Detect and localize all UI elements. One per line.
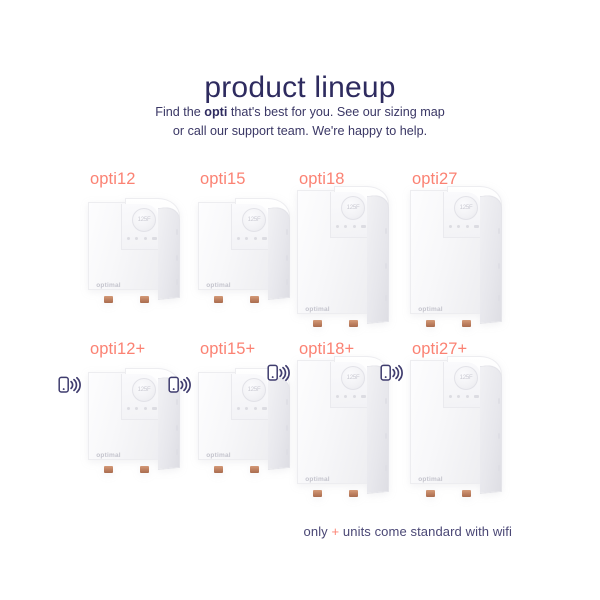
display-temperature-value: 125F	[248, 217, 261, 223]
control-button-2[interactable]	[344, 395, 347, 398]
temperature-display[interactable]: 125F	[454, 196, 478, 220]
control-button-1[interactable]	[449, 395, 452, 398]
phone-wifi-icon	[267, 364, 291, 382]
side-vent-3	[286, 449, 288, 455]
display-temperature-value: 125F	[138, 217, 151, 223]
unit-side-panel	[268, 206, 290, 300]
phone-wifi-icon	[168, 376, 192, 394]
product-grid: opti12125Foptimalopti15125Foptimalopti18…	[0, 0, 600, 600]
side-vent-2	[176, 255, 178, 261]
control-button-3[interactable]	[353, 395, 356, 398]
copper-pipe-outlet	[462, 320, 471, 327]
control-button-2[interactable]	[245, 237, 248, 240]
control-button-3[interactable]	[466, 225, 469, 228]
copper-pipe-inlet	[214, 466, 223, 473]
side-vent-2	[385, 263, 387, 269]
wifi-footnote: only + units come standard with wifi	[304, 524, 512, 539]
side-vent-1	[385, 398, 387, 404]
side-vent-3	[176, 449, 178, 455]
unit-side-panel	[480, 364, 502, 494]
control-button-2[interactable]	[135, 407, 138, 410]
control-button-4[interactable]	[262, 237, 267, 240]
copper-pipe-outlet	[349, 490, 358, 497]
control-button-1[interactable]	[127, 407, 130, 410]
brand-logo: optimal	[206, 282, 231, 289]
unit-side-panel	[480, 194, 502, 324]
unit-side-panel	[268, 376, 290, 470]
side-vent-2	[286, 255, 288, 261]
side-vent-1	[498, 228, 500, 234]
unit-control-buttons[interactable]	[237, 407, 267, 410]
side-vent-2	[498, 433, 500, 439]
water-heater-unit[interactable]: 125Foptimal	[198, 198, 290, 302]
copper-pipe-inlet	[426, 490, 435, 497]
display-temperature-value: 125F	[460, 205, 473, 211]
phone-wifi-icon	[380, 364, 404, 382]
copper-pipe-inlet	[214, 296, 223, 303]
copper-pipe-outlet	[462, 490, 471, 497]
temperature-display[interactable]: 125F	[242, 378, 266, 402]
copper-pipe-inlet	[313, 490, 322, 497]
control-button-3[interactable]	[144, 237, 147, 240]
control-button-3[interactable]	[466, 395, 469, 398]
unit-control-buttons[interactable]	[127, 237, 157, 240]
side-vent-1	[286, 229, 288, 235]
side-vent-1	[385, 228, 387, 234]
temperature-display[interactable]: 125F	[454, 366, 478, 390]
display-temperature-value: 125F	[460, 375, 473, 381]
display-temperature-value: 125F	[248, 387, 261, 393]
display-temperature-value: 125F	[347, 205, 360, 211]
product-label: opti15	[200, 170, 246, 189]
control-button-4[interactable]	[361, 225, 366, 228]
temperature-display[interactable]: 125F	[242, 208, 266, 232]
control-button-2[interactable]	[457, 395, 460, 398]
control-button-3[interactable]	[254, 237, 257, 240]
control-button-2[interactable]	[245, 407, 248, 410]
side-vent-2	[176, 425, 178, 431]
copper-pipe-outlet	[250, 296, 259, 303]
copper-pipe-outlet	[250, 466, 259, 473]
control-button-4[interactable]	[361, 395, 366, 398]
brand-logo: optimal	[96, 282, 121, 289]
footnote-post: units come standard with wifi	[339, 524, 512, 539]
control-button-1[interactable]	[237, 237, 240, 240]
control-button-1[interactable]	[237, 407, 240, 410]
unit-side-panel	[367, 364, 389, 494]
brand-logo: optimal	[206, 452, 231, 459]
brand-logo: optimal	[305, 476, 330, 483]
control-button-2[interactable]	[135, 237, 138, 240]
water-heater-unit[interactable]: 125Foptimal	[88, 198, 180, 302]
temperature-display[interactable]: 125F	[341, 366, 365, 390]
side-vent-2	[385, 433, 387, 439]
brand-logo: optimal	[418, 476, 443, 483]
side-vent-3	[286, 279, 288, 285]
unit-control-buttons[interactable]	[336, 395, 366, 398]
product-lineup-page: product lineup Find the opti that's best…	[0, 0, 600, 600]
control-button-4[interactable]	[474, 395, 479, 398]
brand-logo: optimal	[96, 452, 121, 459]
side-vent-3	[498, 295, 500, 301]
side-vent-2	[286, 425, 288, 431]
control-button-2[interactable]	[457, 225, 460, 228]
copper-pipe-inlet	[104, 296, 113, 303]
water-heater-unit[interactable]: 125Foptimal	[410, 186, 502, 326]
temperature-display[interactable]: 125F	[341, 196, 365, 220]
product-label: opti12	[90, 170, 136, 189]
side-vent-2	[498, 263, 500, 269]
control-button-3[interactable]	[144, 407, 147, 410]
control-button-4[interactable]	[152, 407, 157, 410]
side-vent-3	[385, 295, 387, 301]
copper-pipe-inlet	[426, 320, 435, 327]
copper-pipe-outlet	[140, 466, 149, 473]
side-vent-1	[498, 398, 500, 404]
control-button-1[interactable]	[127, 237, 130, 240]
side-vent-3	[498, 465, 500, 471]
control-button-4[interactable]	[152, 237, 157, 240]
control-button-1[interactable]	[336, 225, 339, 228]
unit-control-buttons[interactable]	[237, 237, 267, 240]
side-vent-1	[176, 229, 178, 235]
footnote-pre: only	[304, 524, 332, 539]
copper-pipe-outlet	[349, 320, 358, 327]
temperature-display[interactable]: 125F	[132, 378, 156, 402]
display-temperature-value: 125F	[347, 375, 360, 381]
water-heater-unit[interactable]: 125Foptimal	[410, 356, 502, 496]
copper-pipe-inlet	[104, 466, 113, 473]
side-vent-1	[286, 399, 288, 405]
unit-control-buttons[interactable]	[127, 407, 157, 410]
display-temperature-value: 125F	[138, 387, 151, 393]
temperature-display[interactable]: 125F	[132, 208, 156, 232]
control-button-4[interactable]	[474, 225, 479, 228]
water-heater-unit[interactable]: 125Foptimal	[297, 356, 389, 496]
brand-logo: optimal	[418, 306, 443, 313]
side-vent-3	[176, 279, 178, 285]
water-heater-unit[interactable]: 125Foptimal	[88, 368, 180, 472]
water-heater-unit[interactable]: 125Foptimal	[297, 186, 389, 326]
side-vent-1	[176, 399, 178, 405]
phone-wifi-icon	[58, 376, 82, 394]
water-heater-unit[interactable]: 125Foptimal	[198, 368, 290, 472]
copper-pipe-inlet	[313, 320, 322, 327]
unit-control-buttons[interactable]	[449, 395, 479, 398]
unit-control-buttons[interactable]	[449, 225, 479, 228]
control-button-1[interactable]	[449, 225, 452, 228]
control-button-4[interactable]	[262, 407, 267, 410]
control-button-3[interactable]	[353, 225, 356, 228]
unit-side-panel	[367, 194, 389, 324]
control-button-1[interactable]	[336, 395, 339, 398]
product-label: opti12+	[90, 340, 145, 359]
side-vent-3	[385, 465, 387, 471]
control-button-3[interactable]	[254, 407, 257, 410]
copper-pipe-outlet	[140, 296, 149, 303]
control-button-2[interactable]	[344, 225, 347, 228]
unit-control-buttons[interactable]	[336, 225, 366, 228]
unit-side-panel	[158, 206, 180, 300]
brand-logo: optimal	[305, 306, 330, 313]
product-label: opti15+	[200, 340, 255, 359]
